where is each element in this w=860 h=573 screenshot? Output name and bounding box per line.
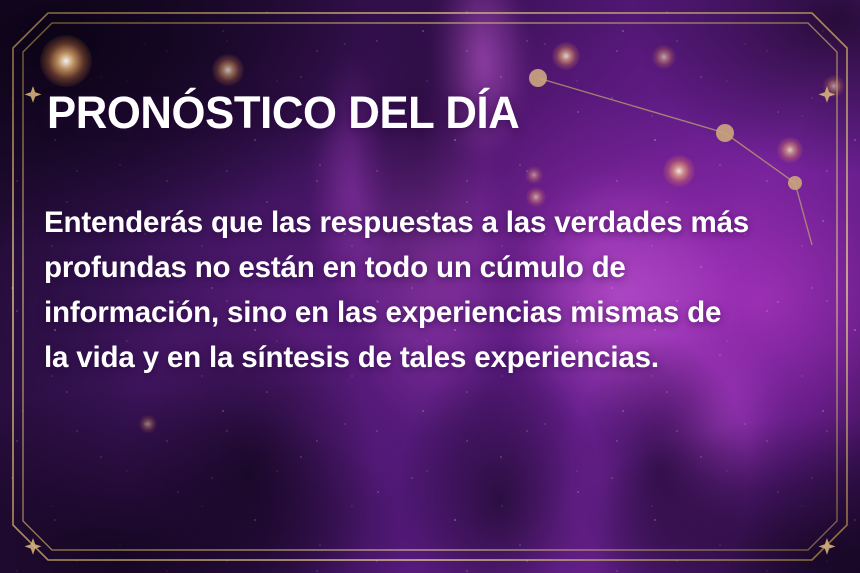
forecast-line: la vida y en la síntesis de tales experi… [44,335,822,380]
forecast-body: Entenderás que las respuestas a las verd… [44,200,834,380]
forecast-line: Entenderás que las respuestas a las verd… [44,200,822,245]
horoscope-card: PRONÓSTICO DEL DÍA Entenderás que las re… [0,0,860,573]
page-title: PRONÓSTICO DEL DÍA [47,87,519,139]
forecast-line: profundas no están en todo un cúmulo de [44,245,822,290]
forecast-line: información, sino en las experiencias mi… [44,290,822,335]
